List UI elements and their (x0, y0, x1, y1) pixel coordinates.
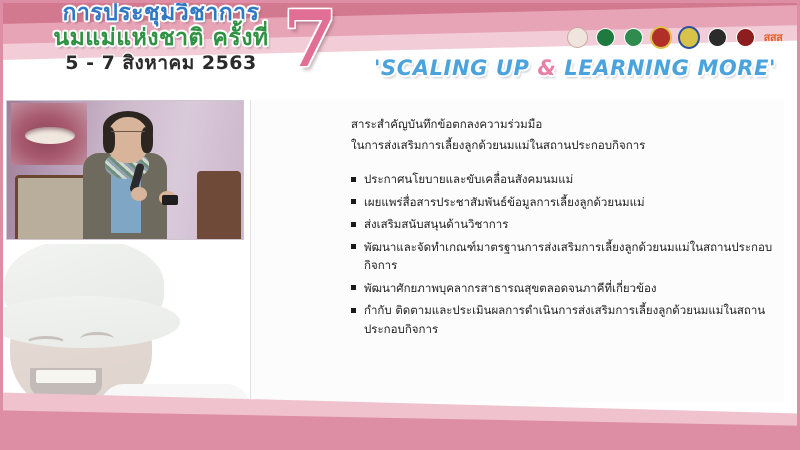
chair-left (15, 175, 87, 240)
chair-right (197, 171, 241, 240)
bullet-square-icon (351, 308, 356, 313)
list-item: ส่งเสริมสนับสนุนด้านวิชาการ (351, 215, 775, 233)
content-heading-line-2: ในการส่งเสริมการเลี้ยงลูกด้วยนมแม่ในสถาน… (351, 135, 771, 156)
bullet-list: ประกาศนโยบายและขับเคลื่อนสังคมนมแม่ เผยแ… (351, 170, 775, 342)
list-item-label: เผยแพร่สื่อสารประชาสัมพันธ์ข้อมูลการเลี้… (364, 193, 645, 211)
list-item-label: พัฒนาและจัดทำเกณฑ์มาตรฐานการส่งเสริมการเ… (364, 238, 775, 274)
clicker-device (162, 195, 178, 205)
list-item-label: ส่งเสริมสนับสนุนด้านวิชาการ (364, 215, 508, 233)
conference-date: 5 - 7 สิงหาคม 2563 (16, 54, 306, 74)
thaihealth-sss-logo: สสส (762, 24, 784, 50)
child-teeth (36, 370, 96, 383)
content-heading-line-1: สาระสำคัญบันทึกข้อตกลงความร่วมมือ (351, 114, 771, 135)
content-heading: สาระสำคัญบันทึกข้อตกลงความร่วมมือ ในการส… (351, 114, 771, 157)
slide-header: การประชุมวิชาการ นมแม่แห่งชาติ ครั้งที่ … (0, 0, 800, 95)
tagline-ampersand: & (537, 56, 556, 80)
royal-emblem-logo (566, 24, 588, 50)
speaker-hand-left (131, 187, 147, 201)
tagline-part-close: LEARNING MORE' (556, 56, 776, 80)
speaker-glasses (111, 131, 145, 140)
list-item: พัฒนาศักยภาพบุคลากรสาธารณสุขตลอดจนภาคีที… (351, 279, 775, 297)
unicef-icon (708, 28, 727, 47)
royal-college-icon (678, 26, 700, 49)
list-item: กำกับ ติดตามและประเมินผลการดำเนินการส่งเ… (351, 301, 775, 337)
bullet-square-icon (351, 244, 356, 249)
bullet-square-icon (351, 285, 356, 290)
unicef-logo (706, 24, 728, 50)
conference-tagline: 'SCALING UP & LEARNING MORE' (360, 56, 790, 80)
health-department-icon (624, 28, 643, 47)
ministry-public-health-icon (596, 28, 615, 47)
pediatric-society-logo (734, 24, 756, 50)
speaker-video[interactable] (6, 100, 244, 240)
ministry-public-health-logo (594, 24, 616, 50)
royal-emblem-icon (567, 27, 588, 48)
footer-band-base (0, 434, 800, 450)
sponsor-logo-strip: สสส (566, 24, 784, 50)
list-item: เผยแพร่สื่อสารประชาสัมพันธ์ข้อมูลการเลี้… (351, 193, 775, 211)
list-item-label: กำกับ ติดตามและประเมินผลการดำเนินการส่งเ… (364, 301, 775, 337)
thai-breastfeeding-icon (650, 26, 672, 49)
list-item-label: ประกาศนโยบายและขับเคลื่อนสังคมนมแม่ (364, 170, 573, 188)
list-item: ประกาศนโยบายและขับเคลื่อนสังคมนมแม่ (351, 170, 775, 188)
conference-title-block: การประชุมวิชาการ นมแม่แห่งชาติ ครั้งที่ … (16, 2, 306, 74)
tagline-part-open: 'SCALING UP (374, 56, 538, 80)
pediatric-society-icon (736, 28, 755, 47)
child-eye-right (80, 332, 114, 346)
child-eye-left (26, 336, 66, 350)
health-department-logo (622, 24, 644, 50)
presentation-slide: การประชุมวิชาการ นมแม่แห่งชาติ ครั้งที่ … (0, 0, 800, 450)
thai-breastfeeding-logo (650, 24, 672, 50)
title-line-1: การประชุมวิชาการ (16, 2, 306, 26)
backdrop-poster-mouth (11, 103, 87, 165)
list-item-label: พัฒนาศักยภาพบุคลากรสาธารณสุขตลอดจนภาคีที… (364, 279, 657, 297)
bullet-square-icon (351, 199, 356, 204)
list-item: พัฒนาและจัดทำเกณฑ์มาตรฐานการส่งเสริมการเ… (351, 238, 775, 274)
royal-college-logo (678, 24, 700, 50)
thaihealth-sss-icon: สสส (764, 32, 783, 43)
title-line-2: นมแม่แห่งชาติ ครั้งที่ (16, 27, 306, 51)
content-panel: สาระสำคัญบันทึกข้อตกลงความร่วมมือ ในการส… (250, 100, 784, 402)
bullet-square-icon (351, 222, 356, 227)
backdrop-poster-teeth (25, 127, 75, 144)
bullet-square-icon (351, 177, 356, 182)
